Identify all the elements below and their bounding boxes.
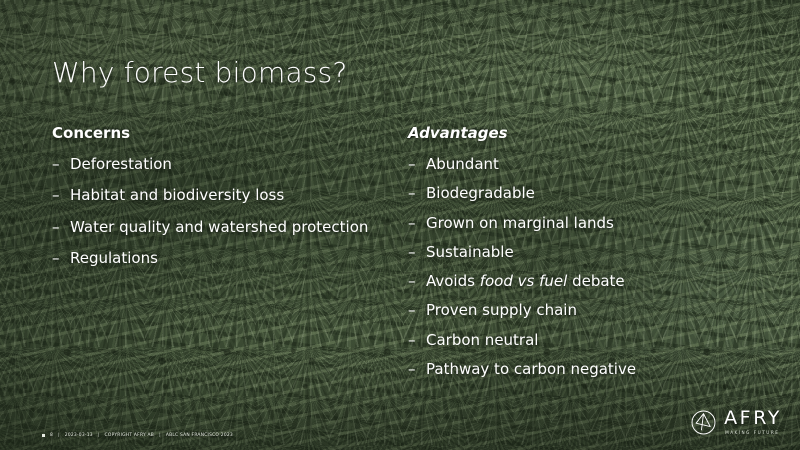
afry-logo-text: AFRY MAKING FUTURE (724, 409, 782, 435)
list-item: – Biodegradable (408, 184, 738, 202)
footer-separator: | (159, 433, 161, 438)
list-item-label: Pathway to carbon negative (426, 360, 636, 378)
concerns-bullet-list: – Deforestation – Habitat and biodiversi… (52, 155, 372, 267)
bullet-dash-icon: – (52, 186, 60, 204)
advantages-bullet-list: – Abundant – Biodegradable – Grown on ma… (408, 155, 738, 378)
bullet-dash-icon: – (408, 155, 416, 173)
list-item-label: Grown on marginal lands (426, 214, 614, 232)
list-item-label: Sustainable (426, 243, 514, 261)
list-item-label: Biodegradable (426, 184, 535, 202)
list-item: – Water quality and watershed protection (52, 218, 372, 236)
bullet-dash-icon: – (408, 331, 416, 349)
bullet-dash-icon: – (408, 214, 416, 232)
list-item: – Sustainable (408, 243, 738, 261)
footer-separator: | (58, 433, 60, 438)
list-item-label: Carbon neutral (426, 331, 538, 349)
afry-wordmark: AFRY (724, 409, 782, 428)
afry-tagline: MAKING FUTURE (725, 431, 782, 435)
list-item: – Carbon neutral (408, 331, 738, 349)
list-item-label: Avoids food vs fuel debate (426, 272, 625, 290)
bullet-dash-icon: – (52, 155, 60, 173)
bullet-dash-icon: – (408, 184, 416, 202)
afry-logo: AFRY MAKING FUTURE (690, 409, 782, 436)
slide-title: Why forest biomass? (52, 56, 347, 89)
list-item: – Regulations (52, 249, 372, 267)
footer-square-icon (42, 434, 45, 437)
slide-footer: 8 | 2023-03-13 | COPYRIGHT AFRY AB | ABL… (42, 433, 233, 438)
list-item: – Habitat and biodiversity loss (52, 186, 372, 204)
column-advantages: Advantages – Abundant – Biodegradable – … (408, 124, 738, 389)
footer-copyright: COPYRIGHT AFRY AB (105, 433, 155, 438)
list-item: – Avoids food vs fuel debate (408, 272, 738, 290)
list-item: – Abundant (408, 155, 738, 173)
bullet-dash-icon: – (408, 272, 416, 290)
list-item-label: Habitat and biodiversity loss (70, 186, 284, 204)
footer-date: 2023-03-13 (65, 433, 93, 438)
list-item-label: Abundant (426, 155, 499, 173)
column-concerns-heading: Concerns (52, 124, 372, 142)
column-concerns: Concerns – Deforestation – Habitat and b… (52, 124, 372, 280)
bullet-dash-icon: – (408, 360, 416, 378)
bullet-dash-icon: – (52, 218, 60, 236)
list-item: – Pathway to carbon negative (408, 360, 738, 378)
bullet-dash-icon: – (408, 243, 416, 261)
footer-event: ABLC SAN FRANCISCO 2023 (166, 433, 233, 438)
column-advantages-heading: Advantages (408, 124, 738, 142)
list-item: – Grown on marginal lands (408, 214, 738, 232)
afry-circle-mark-icon (690, 409, 717, 436)
slide-content: Why forest biomass? Concerns – Deforesta… (0, 0, 800, 450)
bullet-dash-icon: – (52, 249, 60, 267)
list-item-label: Regulations (70, 249, 158, 267)
slide: Why forest biomass? Concerns – Deforesta… (0, 0, 800, 450)
list-item-label: Water quality and watershed protection (70, 218, 368, 236)
list-item-label: Proven supply chain (426, 301, 577, 319)
list-item: – Deforestation (52, 155, 372, 173)
footer-page-number: 8 (50, 433, 53, 438)
list-item-label: Deforestation (70, 155, 172, 173)
footer-separator: | (98, 433, 100, 438)
bullet-dash-icon: – (408, 301, 416, 319)
list-item: – Proven supply chain (408, 301, 738, 319)
